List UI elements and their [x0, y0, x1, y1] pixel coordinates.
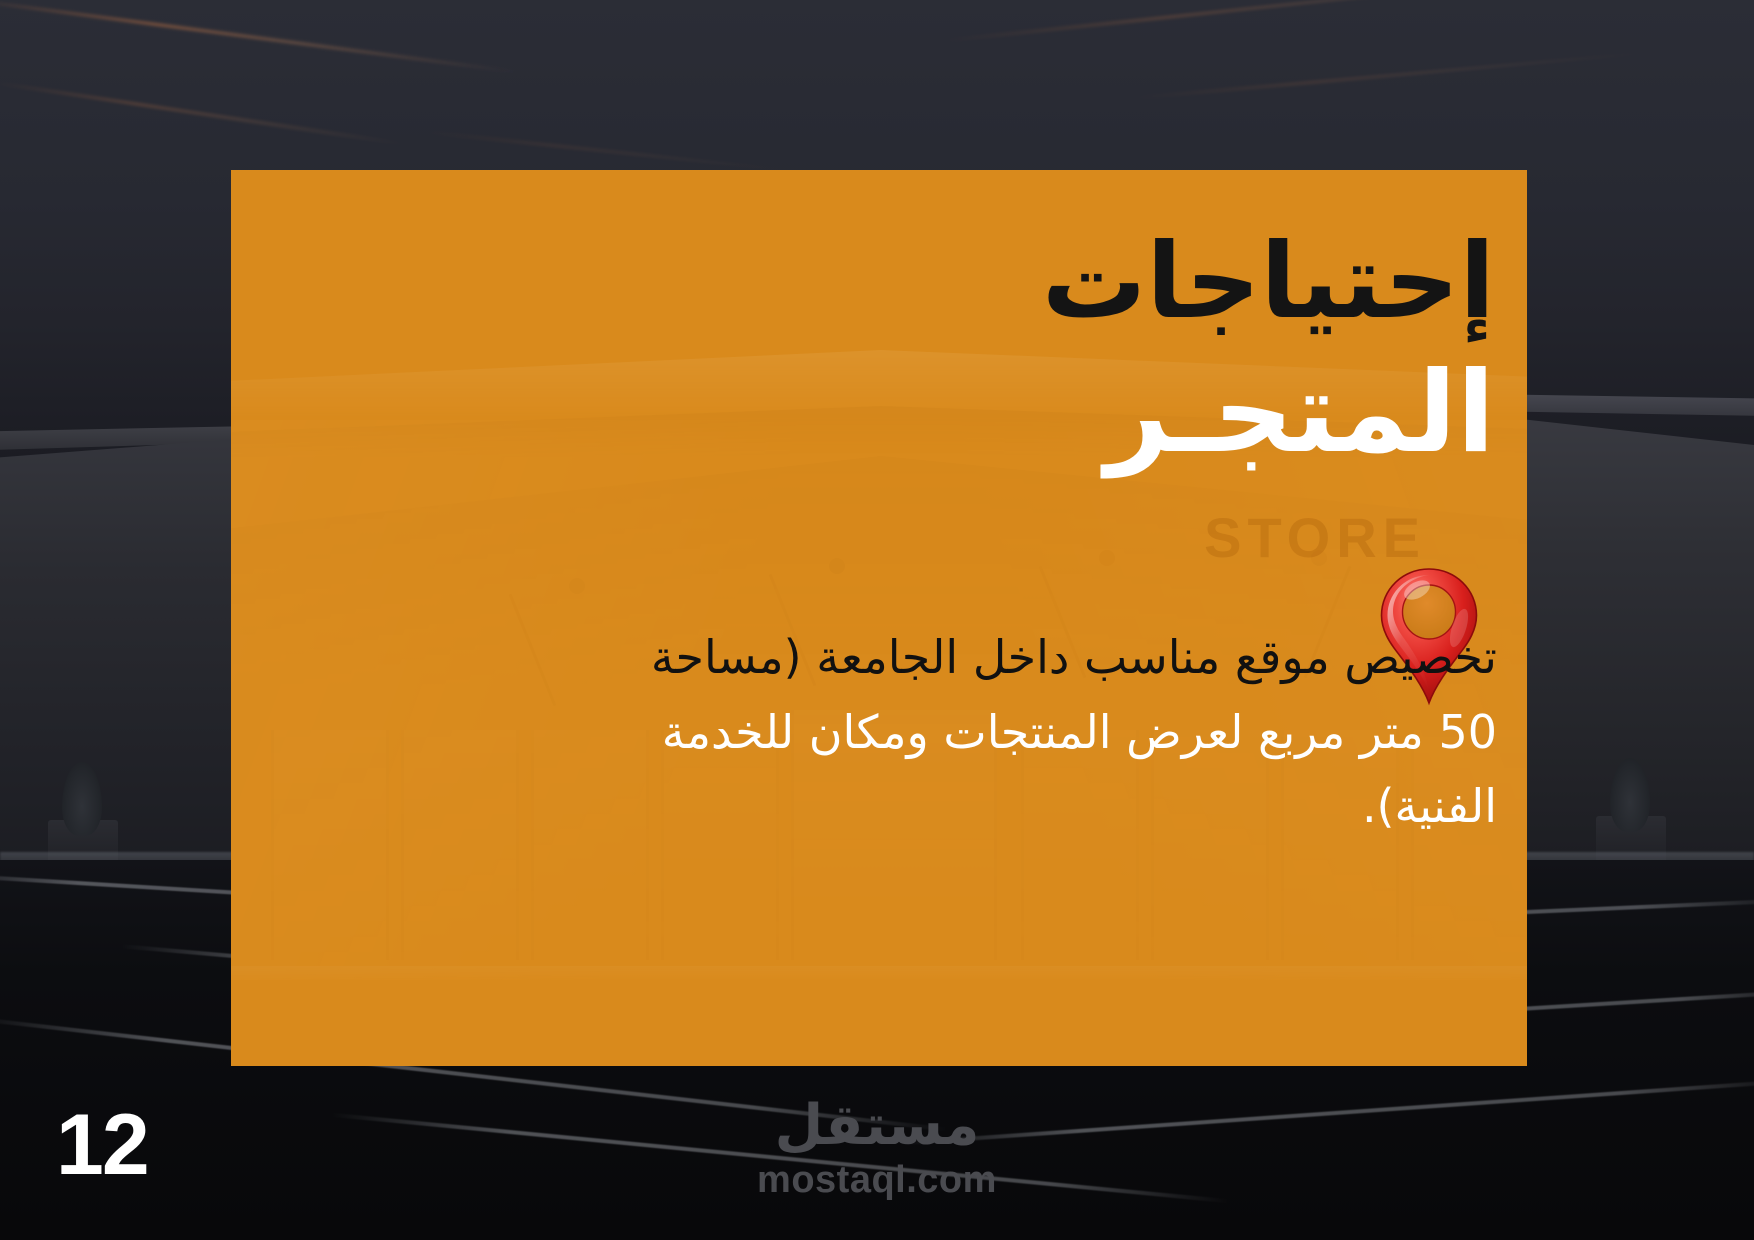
- sky-streak: [0, 81, 408, 146]
- headline-line-1: إحتياجات: [595, 228, 1495, 334]
- body-line-2: 50 متر مربع لعرض المنتجات ومكان للخدمة: [467, 695, 1497, 770]
- card-body-text: تخصيص موقع مناسب داخل الجامعة (مساحة 50 …: [467, 620, 1497, 844]
- slide-canvas: STORE إحتياجات المتجـر: [0, 0, 1754, 1240]
- card-headline: إحتياجات المتجـر: [595, 228, 1495, 470]
- body-line-1: تخصيص موقع مناسب داخل الجامعة (مساحة: [467, 620, 1497, 695]
- sky-streak: [421, 130, 799, 173]
- sky-streak: [0, 0, 518, 74]
- ghost-store-sign: STORE: [1196, 505, 1426, 567]
- page-number: 12: [56, 1096, 148, 1195]
- headline-line-2: المتجـر: [595, 356, 1495, 470]
- sky-streak: [1131, 51, 1649, 99]
- content-card: STORE إحتياجات المتجـر: [231, 170, 1527, 1066]
- sky-streak: [942, 0, 1579, 42]
- body-line-3: الفنية).: [467, 769, 1497, 844]
